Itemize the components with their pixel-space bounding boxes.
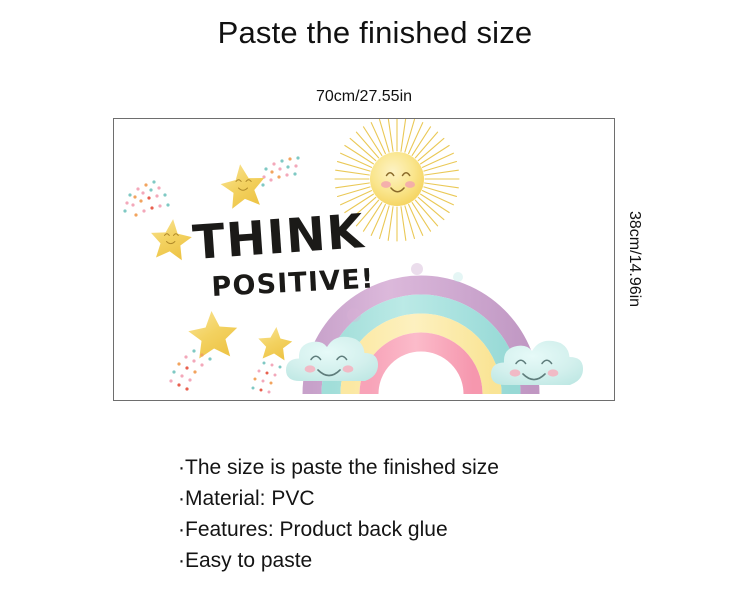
height-dimension-label: 38cm/14.96in <box>625 211 643 307</box>
slogan-line-1: THINK <box>191 204 367 271</box>
product-details-list: ·The size is paste the finished size ·Ma… <box>178 452 698 576</box>
list-item: ·The size is paste the finished size <box>178 452 698 483</box>
height-dimension-label-wrapper: 38cm/14.96in <box>615 118 643 400</box>
slogan-think-positive: THINK POSITIVE! <box>191 204 375 303</box>
wall-sticker-artwork: THINK POSITIVE! <box>114 119 614 400</box>
artwork-frame: THINK POSITIVE! <box>113 118 615 401</box>
slogan-line-2: POSITIVE! <box>211 263 376 302</box>
dot-trail-large <box>169 349 211 390</box>
star-plain-small-icon <box>252 326 294 394</box>
star-smiling-left-icon <box>123 180 193 261</box>
list-item: ·Material: PVC <box>178 483 698 514</box>
dot-trail-upper <box>261 156 299 186</box>
page-title: Paste the finished size <box>0 14 750 51</box>
star-smiling-upper-icon <box>218 156 299 209</box>
width-dimension-label: 70cm/27.55in <box>113 88 615 106</box>
dot-trail-small <box>252 362 282 394</box>
star-plain-large-icon <box>169 309 239 390</box>
list-item: ·Features: Product back glue <box>178 514 698 545</box>
list-item: ·Easy to paste <box>178 545 698 576</box>
dot-trail-left <box>123 180 169 216</box>
